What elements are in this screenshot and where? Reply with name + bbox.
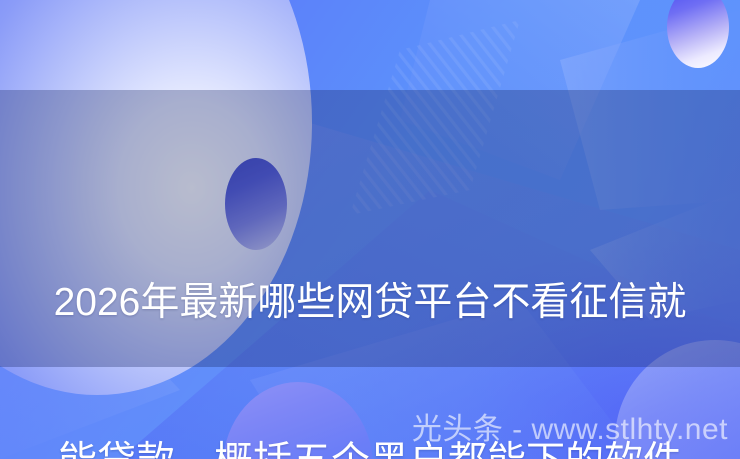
promo-banner: 2026年最新哪些网贷平台不看征信就 能贷款，概括五个黑户都能下的软件 光头条 … [0, 0, 740, 459]
headline-line-1: 2026年最新哪些网贷平台不看征信就 [0, 276, 740, 329]
site-watermark: 光头条 - www.stlhty.net [412, 411, 728, 449]
